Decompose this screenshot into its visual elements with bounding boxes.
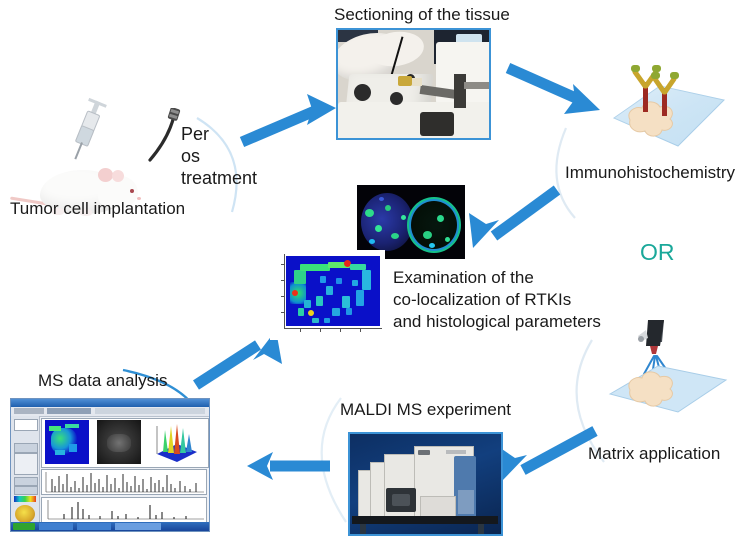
per-os-label-line3: treatment xyxy=(181,168,257,189)
arrow-immunohistochemistry-to-examination xyxy=(469,190,557,248)
workflow-diagram-canvas: Tumor cell implantation Per os treatment… xyxy=(0,0,740,541)
examination-label-line1: Examination of the xyxy=(393,268,534,288)
arrow-maldi-to-analysis xyxy=(247,452,330,480)
per-os-label-line1: Per xyxy=(181,124,209,145)
immunohistochemistry-label: Immunohistochemistry xyxy=(565,163,735,183)
software-3d-surface-panel xyxy=(151,420,201,464)
arrow-implantation-to-sectioning xyxy=(242,94,336,142)
ms-software-window xyxy=(10,398,210,532)
examination-label-line3: and histological parameters xyxy=(393,312,601,332)
software-ion-image-panel xyxy=(45,420,89,464)
tumor-implantation-label: Tumor cell implantation xyxy=(10,199,185,219)
matrix-application-illustration xyxy=(604,320,734,430)
matrix-application-label: Matrix application xyxy=(588,444,720,464)
per-os-label-line2: os xyxy=(181,146,200,167)
immunohistochemistry-illustration xyxy=(590,62,725,154)
arrow-sectioning-to-immunohistochemistry xyxy=(508,68,600,114)
fluorescence-image xyxy=(357,185,465,259)
software-spectrum-top xyxy=(41,469,207,495)
maldi-experiment-label: MALDI MS experiment xyxy=(340,400,511,420)
sectioning-label: Sectioning of the tissue xyxy=(334,5,510,25)
maldi-ion-image xyxy=(270,250,385,340)
examination-label-line2: co-localization of RTKIs xyxy=(393,290,571,310)
software-optical-image-panel xyxy=(97,420,141,464)
microtome-photo xyxy=(336,28,491,140)
or-divider-label: OR xyxy=(640,239,675,266)
ms-data-analysis-label: MS data analysis xyxy=(38,371,167,391)
software-title-bar xyxy=(11,399,209,407)
software-spectrum-bottom xyxy=(41,497,207,523)
maldi-instrument-photo xyxy=(348,432,503,536)
gavage-needle-icon xyxy=(140,108,186,170)
arrow-matrix-to-maldi xyxy=(499,431,595,482)
